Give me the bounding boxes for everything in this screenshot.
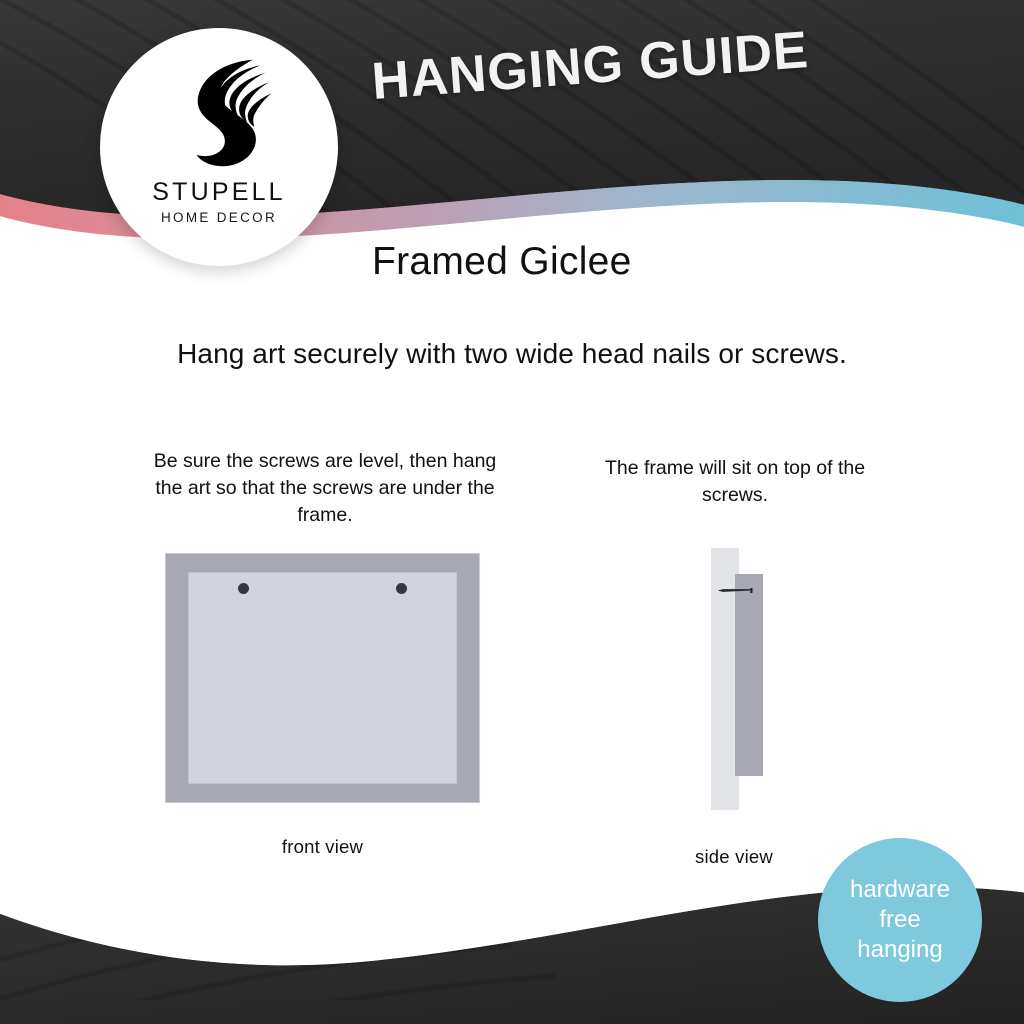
brand-logo-badge: STUPELL HOME DECOR — [100, 28, 338, 266]
frame-outer-border — [165, 553, 480, 803]
side-view-diagram — [705, 545, 775, 813]
badge-line-1: hardware — [850, 875, 950, 905]
product-type-heading: Framed Giclee — [372, 240, 632, 284]
screw-dot-right — [396, 583, 407, 594]
frame-inner-art — [188, 572, 457, 784]
side-view-caption: The frame will sit on top of the screws. — [590, 455, 880, 509]
front-view-label: front view — [225, 836, 420, 858]
nail-icon — [714, 588, 760, 593]
screw-dot-left — [238, 583, 249, 594]
stupell-swoosh-logo-icon — [163, 52, 275, 172]
side-view-label: side view — [640, 846, 828, 868]
brand-tagline: HOME DECOR — [161, 210, 277, 225]
brand-name: STUPELL — [152, 178, 286, 207]
hardware-free-hanging-badge: hardware free hanging — [818, 838, 982, 1002]
front-view-caption: Be sure the screws are level, then hang … — [150, 448, 500, 529]
side-view-frame — [735, 574, 763, 776]
badge-line-3: hanging — [857, 935, 942, 965]
front-view-diagram — [165, 553, 480, 803]
page-title: HANGING GUIDE — [370, 20, 811, 112]
badge-line-2: free — [879, 905, 920, 935]
hanging-guide-page: STUPELL HOME DECOR HANGING GUIDE Framed … — [0, 0, 1024, 1024]
main-instruction-text: Hang art securely with two wide head nai… — [0, 338, 1024, 370]
